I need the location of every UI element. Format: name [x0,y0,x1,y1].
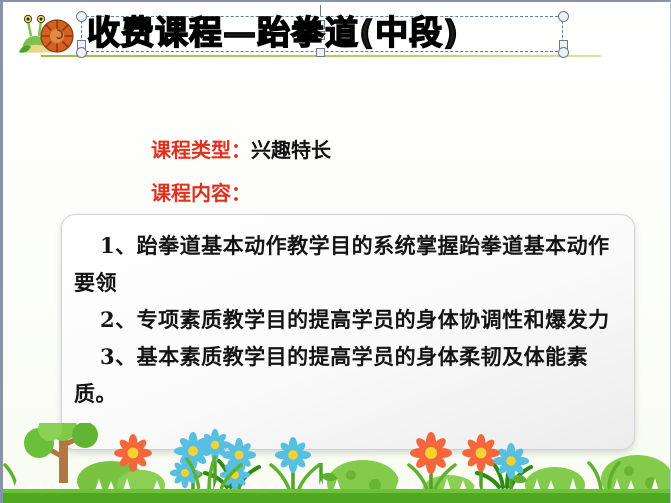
bush-shapes [77,455,671,503]
flower-stems [187,449,527,489]
grass-white-blades [13,478,659,491]
presentation-slide: 收费课程—跆拳道(中段) 课程类型：兴趣特长 课程内容： 1、跆拳道基本动作教学… [0,0,671,503]
content-item-2: 2、专项素质教学目的提高学员的身体协调性和爆发力 [74,301,618,338]
handle-top-left[interactable] [76,11,87,22]
course-content-label: 课程内容： [151,181,251,205]
handle-bottom-left[interactable] [76,47,87,58]
slide-title-area: 收费课程—跆拳道(中段) [3,2,671,60]
handle-bottom-right[interactable] [558,47,569,58]
course-content-line: 课程内容： [151,177,251,206]
course-type-line: 课程类型：兴趣特长 [151,134,331,163]
content-item-1: 1、跆拳道基本动作教学目的系统掌握跆拳道基本动作要领 [74,227,618,301]
snail-icon [17,11,79,57]
course-content-card[interactable]: 1、跆拳道基本动作教学目的系统掌握跆拳道基本动作要领 2、专项素质教学目的提高学… [61,214,635,450]
handle-top-right[interactable] [558,11,569,22]
ground-band [3,489,671,503]
course-type-label: 课程类型： [151,138,251,162]
content-item-3: 3、基本素质教学目的提高学员的身体柔韧及体能素质。 [74,338,618,412]
grass-tufts-dark [205,459,531,487]
page-title[interactable]: 收费课程—跆拳道(中段) [87,10,557,56]
grass-fans [5,457,619,489]
course-type-value: 兴趣特长 [251,138,331,162]
